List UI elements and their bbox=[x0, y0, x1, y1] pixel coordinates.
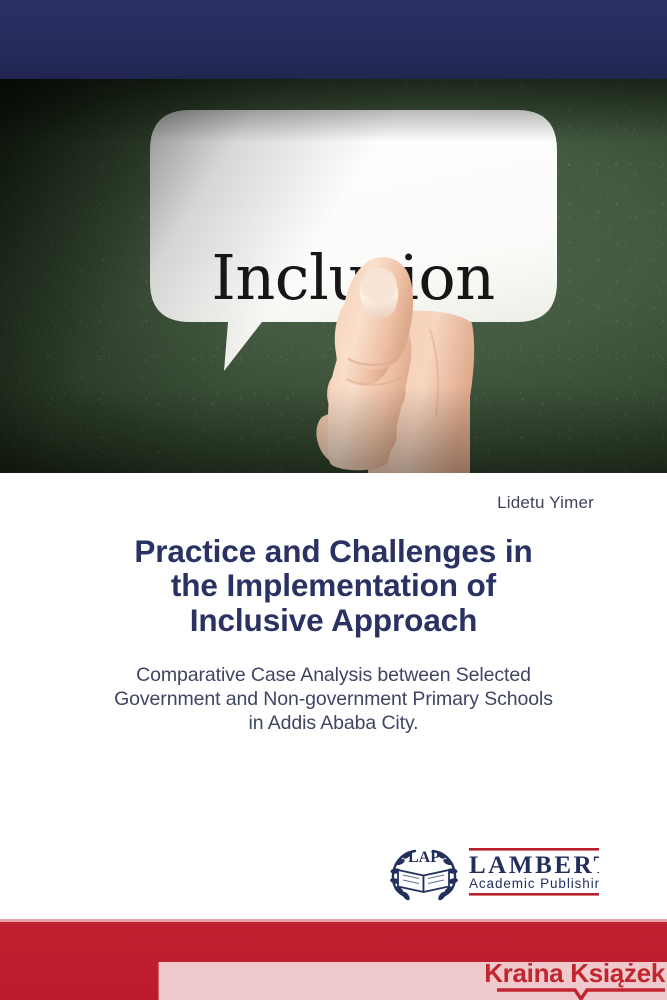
subtitle-line-3: in Addis Ababa City. bbox=[70, 712, 597, 736]
open-book-icon bbox=[398, 870, 449, 892]
photo-vignette bbox=[0, 79, 667, 473]
top-navy-band bbox=[0, 0, 667, 79]
publisher-name: LAMBERT bbox=[469, 852, 599, 879]
watermark-text: Kraina Książek bbox=[484, 960, 665, 986]
publisher-tagline: Academic Publishing bbox=[469, 876, 599, 891]
title-line-2: the Implementation of bbox=[70, 568, 597, 602]
title-line-1: Practice and Challenges in bbox=[70, 534, 597, 568]
logo-rule-top bbox=[469, 848, 599, 851]
book-subtitle: Comparative Case Analysis between Select… bbox=[70, 664, 597, 735]
lap-monogram: LAP bbox=[408, 849, 440, 866]
subtitle-line-1: Comparative Case Analysis between Select… bbox=[70, 664, 597, 688]
subtitle-line-2: Government and Non-government Primary Sc… bbox=[70, 688, 597, 712]
author-name: Lidetu Yimer bbox=[497, 493, 594, 513]
title-line-3: Inclusive Approach bbox=[70, 603, 597, 637]
cover-photo: Inclusion bbox=[0, 79, 667, 473]
logo-rule-bottom bbox=[469, 893, 599, 896]
book-title: Practice and Challenges in the Implement… bbox=[70, 534, 597, 637]
watermark-book-icon bbox=[497, 988, 665, 1000]
book-cover: Inclusion bbox=[0, 0, 667, 1000]
publisher-logo: LAP LAMBERT Academic Publishing bbox=[381, 841, 599, 901]
